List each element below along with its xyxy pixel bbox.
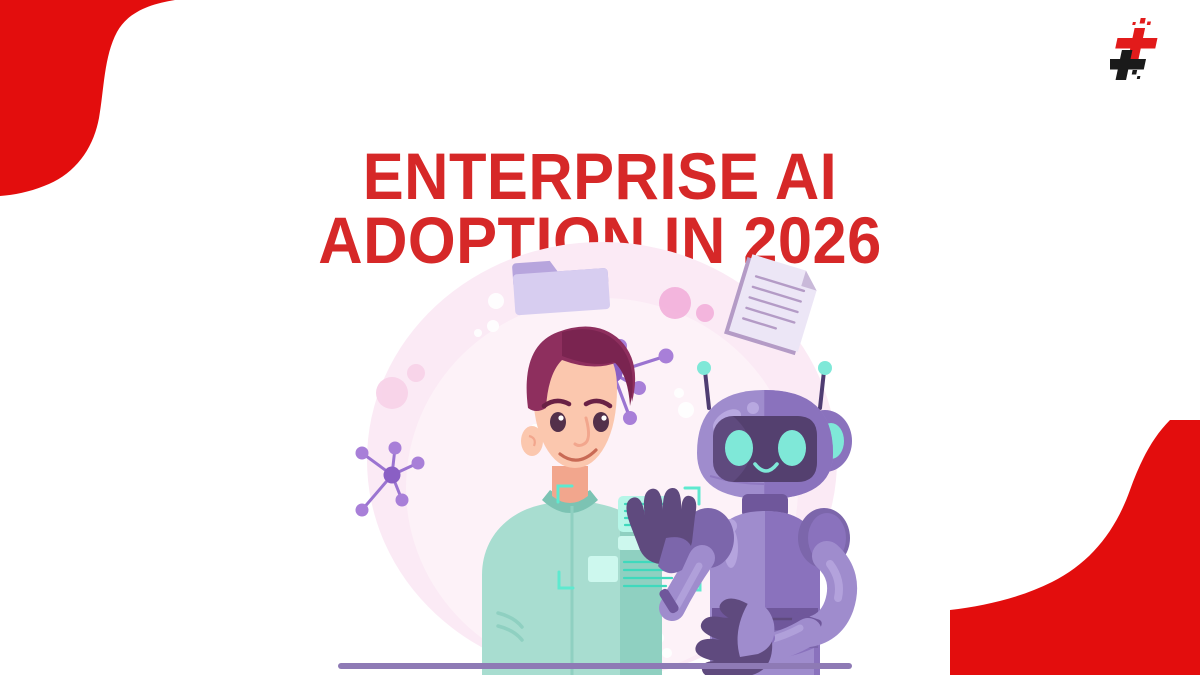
ground-line xyxy=(338,663,852,669)
logo-red-plus xyxy=(1113,18,1162,61)
logo-black-plus xyxy=(1110,50,1148,80)
title-line-1: ENTERPRISE AI xyxy=(42,144,1158,208)
hero-illustration xyxy=(330,238,860,675)
banner-canvas: ENTERPRISE AI ADOPTION IN 2026 xyxy=(0,0,1200,675)
red-corner-blob-bottom-right xyxy=(950,420,1200,675)
dual-plus-logo[interactable] xyxy=(1110,12,1186,88)
